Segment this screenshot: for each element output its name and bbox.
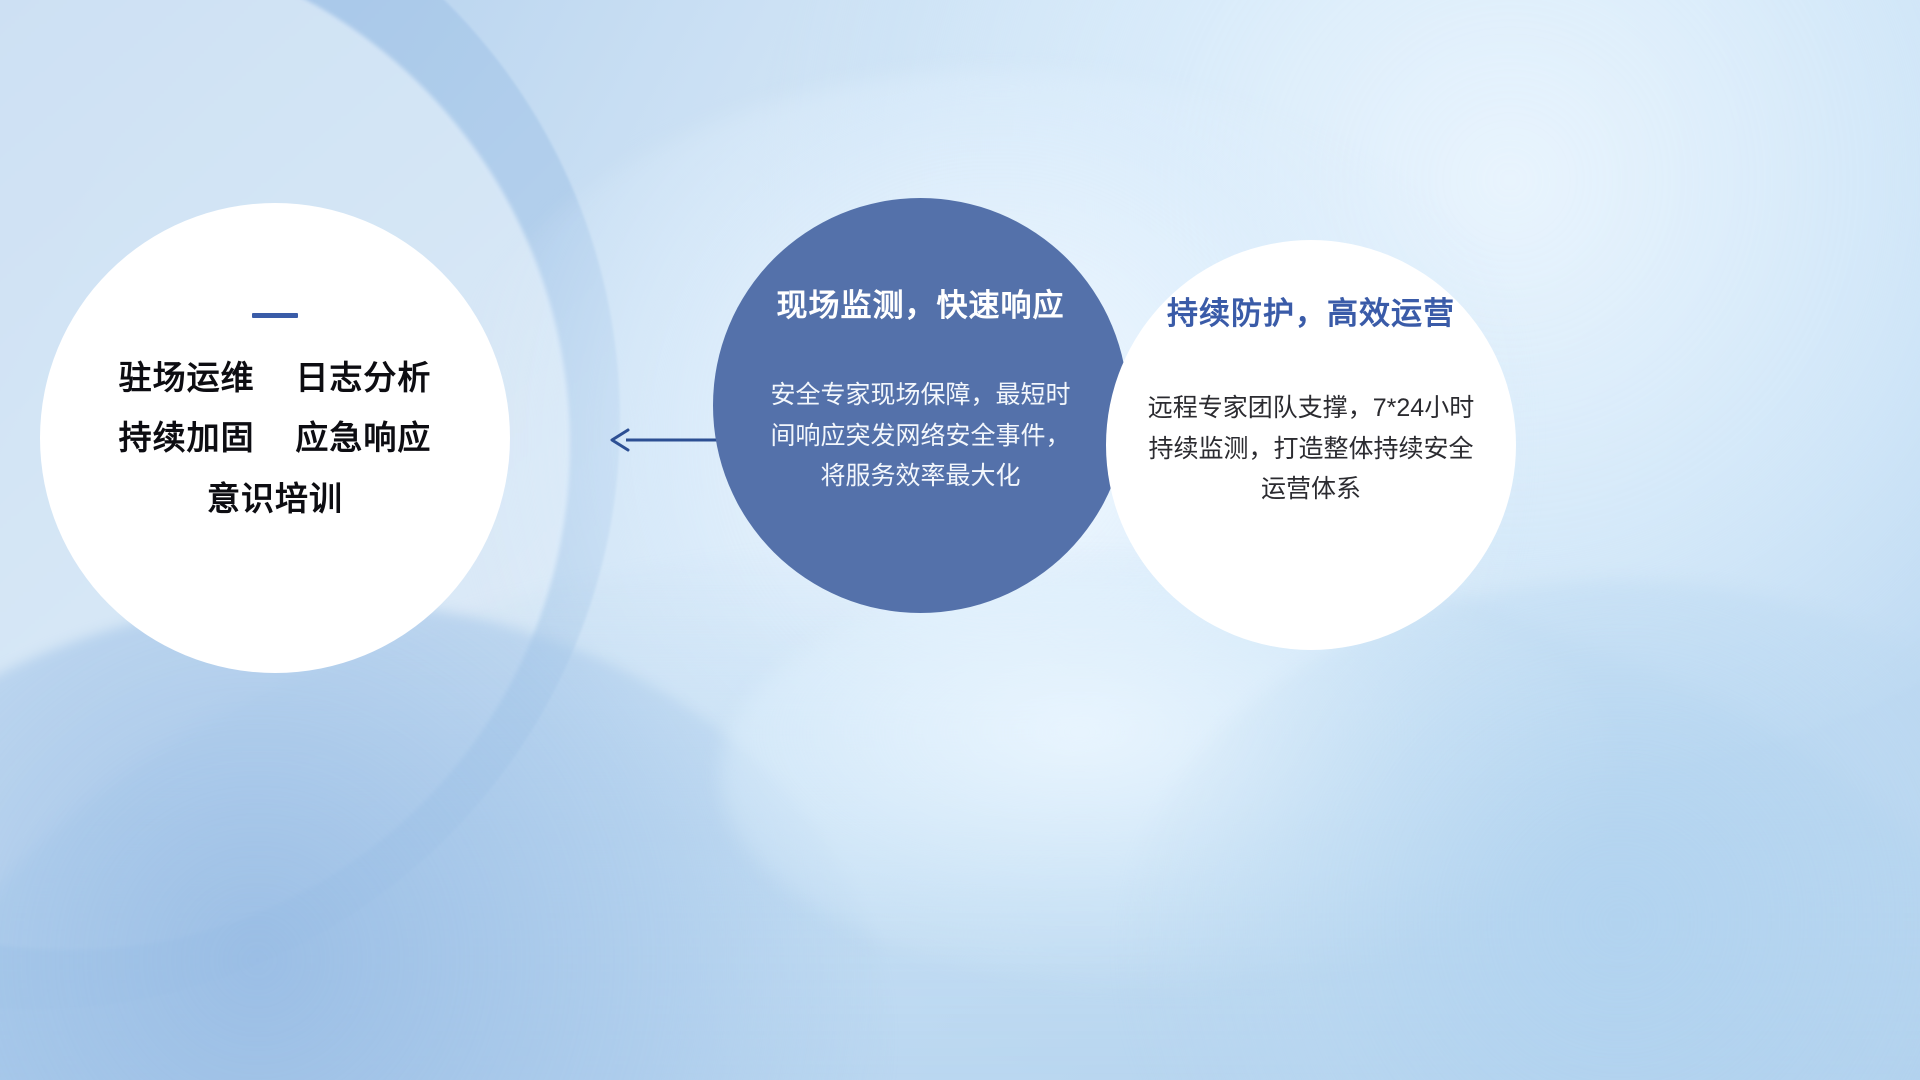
- mid-circle-card[interactable]: 现场监测，快速响应 安全专家现场保障，最短时间响应突发网络安全事件，将服务效率最…: [713, 198, 1128, 613]
- dash-divider-icon: [252, 313, 298, 318]
- right-circle-body: 远程专家团队支撑，7*24小时持续监测，打造整体持续安全运营体系: [1139, 388, 1484, 510]
- mid-circle-body: 安全专家现场保障，最短时间响应突发网络安全事件，将服务效率最大化: [771, 375, 1071, 497]
- slide-canvas: 驻场运维 日志分析 持续加固 应急响应 意识培训 现场监测，快速响应 安全专家现…: [0, 0, 1920, 1080]
- left-circle-line-1: 驻场运维 日志分析: [119, 360, 432, 396]
- right-circle-card[interactable]: 持续防护，高效运营 远程专家团队支撑，7*24小时持续监测，打造整体持续安全运营…: [1106, 240, 1516, 650]
- left-circle-text-block: 驻场运维 日志分析 持续加固 应急响应 意识培训: [119, 360, 432, 517]
- mid-circle-title: 现场监测，快速响应: [777, 280, 1065, 325]
- left-circle-line-2: 持续加固 应急响应: [119, 420, 432, 456]
- left-circle-line-3: 意识培训: [207, 481, 343, 517]
- right-circle-title: 持续防护，高效运营: [1167, 288, 1455, 333]
- left-circle-card[interactable]: 驻场运维 日志分析 持续加固 应急响应 意识培训: [40, 203, 510, 673]
